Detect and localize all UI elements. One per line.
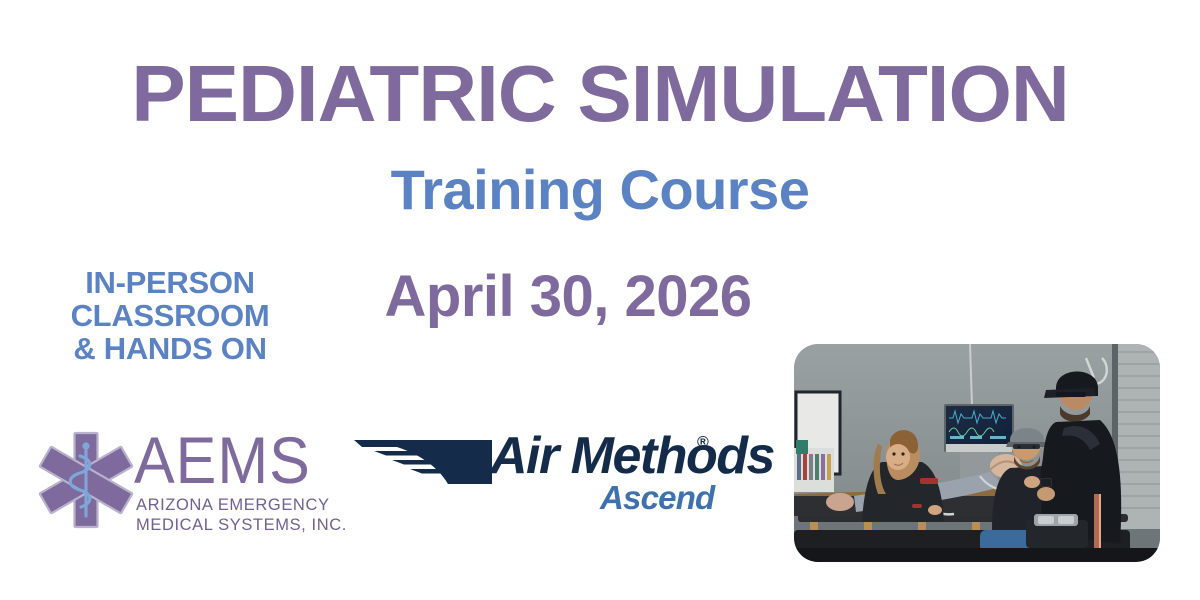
- aems-logo: AEMS ARIZONA EMERGENCY MEDICAL SYSTEMS, …: [34, 424, 334, 534]
- aems-tagline-line-1: ARIZONA EMERGENCY: [136, 496, 347, 516]
- course-format-line-1: IN-PERSON: [36, 266, 304, 299]
- aems-wordmark: AEMS: [134, 428, 311, 494]
- air-methods-logo: Air Methods ® Ascend: [352, 432, 752, 532]
- wing-swoosh-icon: [352, 434, 492, 486]
- poster-canvas: PEDIATRIC SIMULATION Training Course IN-…: [0, 0, 1200, 600]
- course-format-blurb: IN-PERSON CLASSROOM & HANDS ON: [36, 266, 304, 365]
- aems-tagline-line-2: MEDICAL SYSTEMS, INC.: [136, 516, 347, 536]
- page-title: PEDIATRIC SIMULATION: [0, 52, 1200, 136]
- air-methods-wordmark: Air Methods: [490, 428, 774, 484]
- page-subtitle: Training Course: [0, 158, 1200, 222]
- course-format-line-3: & HANDS ON: [36, 332, 304, 365]
- course-format-line-2: CLASSROOM: [36, 299, 304, 332]
- simulation-photo: [794, 344, 1160, 562]
- aems-tagline: ARIZONA EMERGENCY MEDICAL SYSTEMS, INC.: [136, 496, 347, 535]
- air-methods-sub-brand: Ascend: [600, 480, 714, 516]
- course-date: April 30, 2026: [318, 264, 818, 330]
- star-of-life-icon: [36, 430, 136, 530]
- registered-trademark-icon: ®: [697, 434, 709, 452]
